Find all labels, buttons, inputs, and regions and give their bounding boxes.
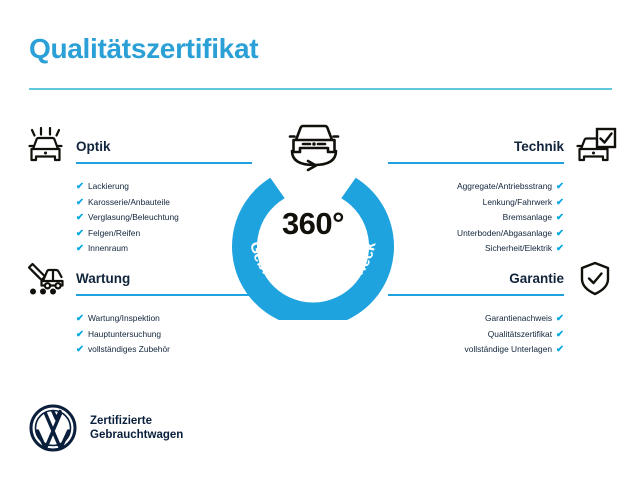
shield-check-icon	[572, 258, 618, 300]
section-wartung: Wartung ✔ Wartung/Inspektion ✔ Hauptunte…	[22, 258, 252, 358]
check-icon: ✔	[76, 342, 84, 358]
list-item: ✔ vollständiges Zubehör	[76, 342, 252, 358]
list-item: ✔ Wartung/Inspektion	[76, 311, 252, 327]
list-item-label: Lackierung	[88, 179, 129, 195]
checklist-garantie: Garantienachweis ✔ Qualitätszertifikat ✔…	[388, 311, 618, 358]
footer-line-1: Zertifizierte	[90, 414, 183, 429]
footer-brand: Zertifizierte Gebrauchtwagen	[29, 404, 183, 452]
list-item-label: Unterboden/Abgasanlage	[457, 226, 552, 242]
list-item: Aggregate/Antriebsstrang ✔	[388, 179, 564, 195]
list-item: Qualitätszertifikat ✔	[388, 327, 564, 343]
footer-line-2: Gebrauchtwagen	[90, 428, 183, 443]
check-icon: ✔	[556, 241, 564, 257]
list-item: Lenkung/Fahrwerk ✔	[388, 195, 564, 211]
certificate-page: Qualitätszertifikat	[0, 0, 640, 480]
list-item-label: Aggregate/Antriebsstrang	[457, 179, 552, 195]
badge-center-label: 360°	[228, 206, 398, 242]
check-icon: ✔	[76, 179, 84, 195]
checklist-technik: Aggregate/Antriebsstrang ✔ Lenkung/Fahrw…	[388, 179, 618, 257]
list-item: Unterboden/Abgasanlage ✔	[388, 226, 564, 242]
check-icon: ✔	[556, 210, 564, 226]
list-item-label: vollständiges Zubehör	[88, 342, 170, 358]
check-icon: ✔	[76, 226, 84, 242]
list-item-label: Bremsanlage	[503, 210, 552, 226]
section-garantie: Garantie Garantienachweis ✔ Qualitätszer…	[388, 258, 618, 358]
check-icon: ✔	[76, 195, 84, 211]
check-icon: ✔	[76, 311, 84, 327]
list-item-label: Lenkung/Fahrwerk	[483, 195, 552, 211]
car-wrench-icon	[22, 258, 68, 300]
list-item: Bremsanlage ✔	[388, 210, 564, 226]
check-icon: ✔	[556, 311, 564, 327]
list-item: ✔ Lackierung	[76, 179, 252, 195]
list-item-label: Sicherheit/Elektrik	[485, 241, 552, 257]
section-optik: Optik ✔ Lackierung ✔ Karosserie/Anbautei…	[22, 126, 252, 257]
footer-text: Zertifizierte Gebrauchtwagen	[90, 414, 183, 443]
checklist-optik: ✔ Lackierung ✔ Karosserie/Anbauteile ✔ V…	[22, 179, 252, 257]
checklist-wartung: ✔ Wartung/Inspektion ✔ Hauptuntersuchung…	[22, 311, 252, 358]
section-title: Wartung	[76, 258, 252, 289]
check-icon: ✔	[556, 342, 564, 358]
check-icon: ✔	[556, 327, 564, 343]
check-icon: ✔	[76, 241, 84, 257]
check-icon: ✔	[556, 179, 564, 195]
vw-logo	[29, 404, 77, 452]
list-item: ✔ Innenraum	[76, 241, 252, 257]
section-technik: Technik	[388, 126, 618, 257]
list-item: Sicherheit/Elektrik ✔	[388, 241, 564, 257]
list-item: ✔ Hauptuntersuchung	[76, 327, 252, 343]
list-item-label: Qualitätszertifikat	[488, 327, 552, 343]
check-icon: ✔	[76, 327, 84, 343]
section-underline	[388, 294, 564, 296]
list-item-label: Felgen/Reifen	[88, 226, 140, 242]
section-title: Garantie	[509, 258, 564, 289]
list-item: ✔ Felgen/Reifen	[76, 226, 252, 242]
badge-360-gebrauchtwagen-check: Gebrauchtwagen-Check 360°	[228, 150, 398, 320]
car-shine-icon	[22, 126, 68, 168]
car-rotate-icon	[278, 118, 350, 176]
list-item-label: Garantienachweis	[485, 311, 552, 327]
check-icon: ✔	[556, 226, 564, 242]
list-item-label: Karosserie/Anbauteile	[88, 195, 170, 211]
car-checkbox-icon	[572, 126, 618, 168]
list-item-label: vollständige Unterlagen	[465, 342, 553, 358]
section-title: Optik	[76, 126, 252, 157]
list-item: ✔ Karosserie/Anbauteile	[76, 195, 252, 211]
section-title: Technik	[514, 126, 564, 157]
check-icon: ✔	[76, 210, 84, 226]
list-item: vollständige Unterlagen ✔	[388, 342, 564, 358]
list-item-label: Wartung/Inspektion	[88, 311, 160, 327]
section-underline	[388, 162, 564, 164]
section-underline	[76, 294, 252, 296]
title-divider	[29, 88, 612, 90]
page-title: Qualitätszertifikat	[29, 33, 258, 65]
section-underline	[76, 162, 252, 164]
list-item-label: Verglasung/Beleuchtung	[88, 210, 179, 226]
list-item-label: Innenraum	[88, 241, 128, 257]
list-item-label: Hauptuntersuchung	[88, 327, 161, 343]
list-item: ✔ Verglasung/Beleuchtung	[76, 210, 252, 226]
list-item: Garantienachweis ✔	[388, 311, 564, 327]
check-icon: ✔	[556, 195, 564, 211]
